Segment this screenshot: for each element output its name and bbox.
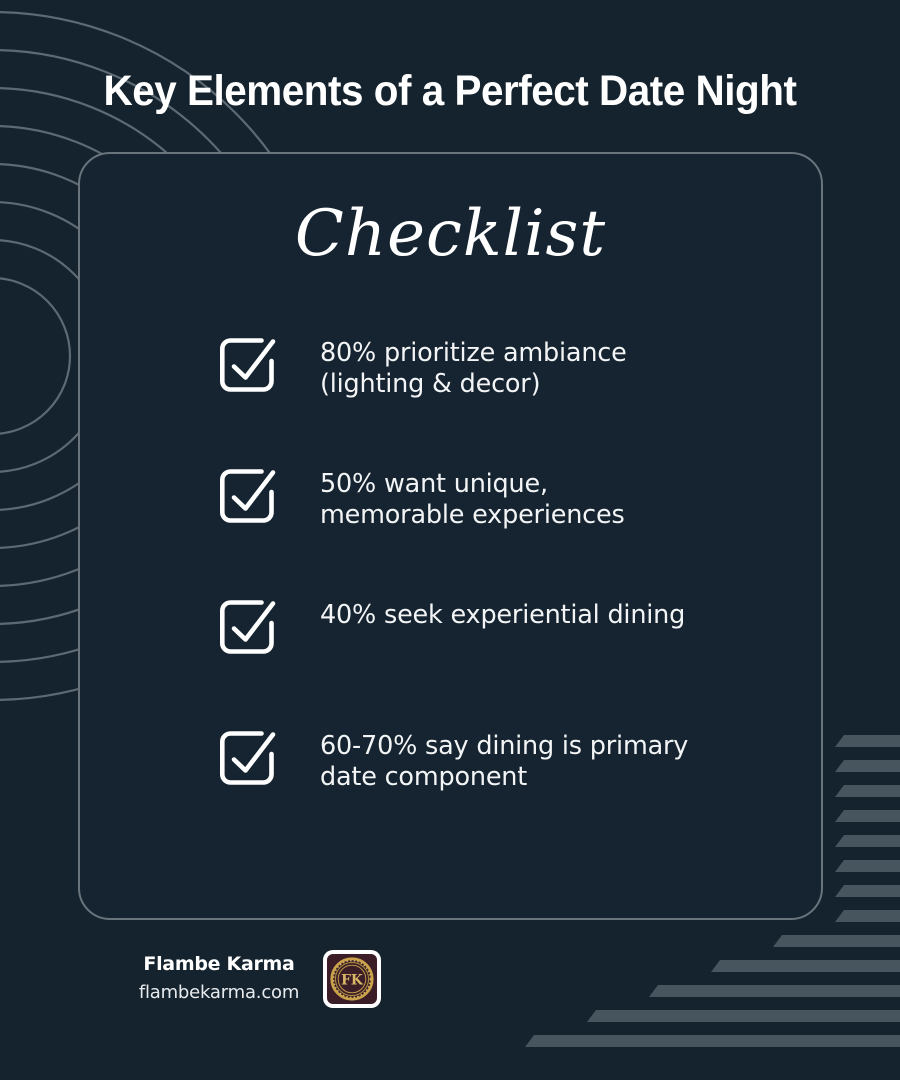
list-item-label: 60-70% say dining is primary date compon…	[320, 725, 688, 793]
brand-name: Flambe Karma	[139, 950, 299, 979]
checkbox-checked-icon[interactable]	[216, 727, 278, 789]
card-heading: Checklist	[80, 154, 821, 266]
svg-text:FK: FK	[341, 973, 364, 989]
page-title: Key Elements of a Perfect Date Night	[83, 69, 816, 114]
list-item[interactable]: 80% prioritize ambiance (lighting & deco…	[216, 332, 796, 402]
brand-website[interactable]: flambekarma.com	[139, 979, 299, 1008]
list-item-label: 40% seek experiential dining	[320, 594, 685, 631]
checkbox-checked-icon[interactable]	[216, 334, 278, 396]
list-item[interactable]: 60-70% say dining is primary date compon…	[216, 725, 796, 795]
list-item-label: 50% want unique, memorable experiences	[320, 463, 625, 531]
flambe-karma-emblem-icon: FK	[327, 954, 377, 1004]
checklist-items: 80% prioritize ambiance (lighting & deco…	[216, 332, 796, 795]
checkbox-checked-icon[interactable]	[216, 596, 278, 658]
list-item[interactable]: 40% seek experiential dining	[216, 594, 796, 664]
checklist-card: Checklist 80% prioritize ambiance (light…	[78, 152, 823, 920]
brand-logo-badge: FK	[323, 950, 381, 1008]
brand-text-block: Flambe Karma flambekarma.com	[139, 950, 299, 1007]
footer-branding: Flambe Karma flambekarma.com FK	[0, 950, 520, 1008]
checkbox-checked-icon[interactable]	[216, 465, 278, 527]
list-item[interactable]: 50% want unique, memorable experiences	[216, 463, 796, 533]
list-item-label: 80% prioritize ambiance (lighting & deco…	[320, 332, 627, 400]
